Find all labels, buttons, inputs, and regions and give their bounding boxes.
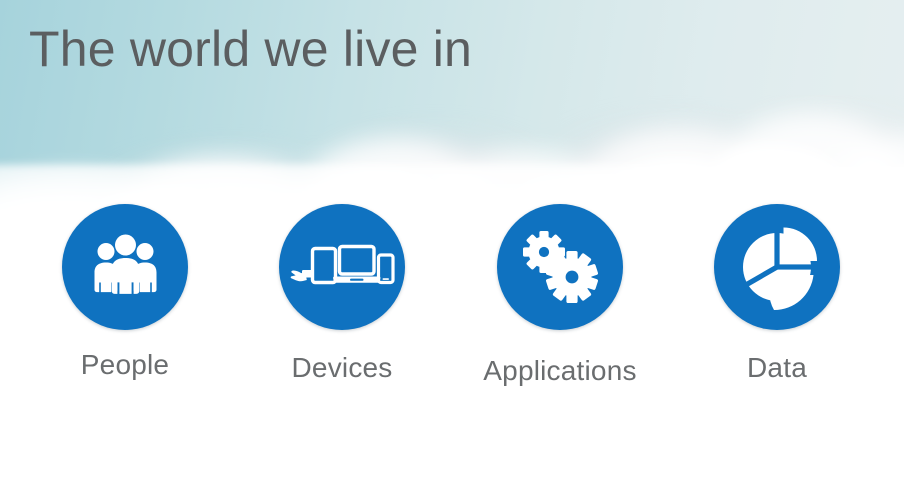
pillar-row: People: [0, 204, 904, 434]
pillar-devices[interactable]: Devices: [252, 204, 432, 384]
gears-icon: [497, 204, 623, 330]
pillar-label-data: Data: [687, 352, 867, 384]
people-circle[interactable]: [62, 204, 188, 330]
applications-circle[interactable]: [497, 204, 623, 330]
pillar-label-applications: Applications: [460, 355, 660, 387]
data-circle[interactable]: [714, 204, 840, 330]
slide: The world we live in People: [0, 0, 904, 499]
pillar-label-people: People: [35, 349, 215, 381]
pillar-data[interactable]: Data: [687, 204, 867, 384]
devices-circle[interactable]: [279, 204, 405, 330]
devices-tablet-laptop-phone-icon: [279, 204, 405, 330]
pillar-applications[interactable]: Applications: [460, 204, 660, 387]
pillar-people[interactable]: People: [35, 204, 215, 381]
pillar-label-devices: Devices: [252, 352, 432, 384]
pie-chart-icon: [714, 204, 840, 330]
people-group-icon: [62, 204, 188, 330]
page-title: The world we live in: [29, 21, 472, 77]
